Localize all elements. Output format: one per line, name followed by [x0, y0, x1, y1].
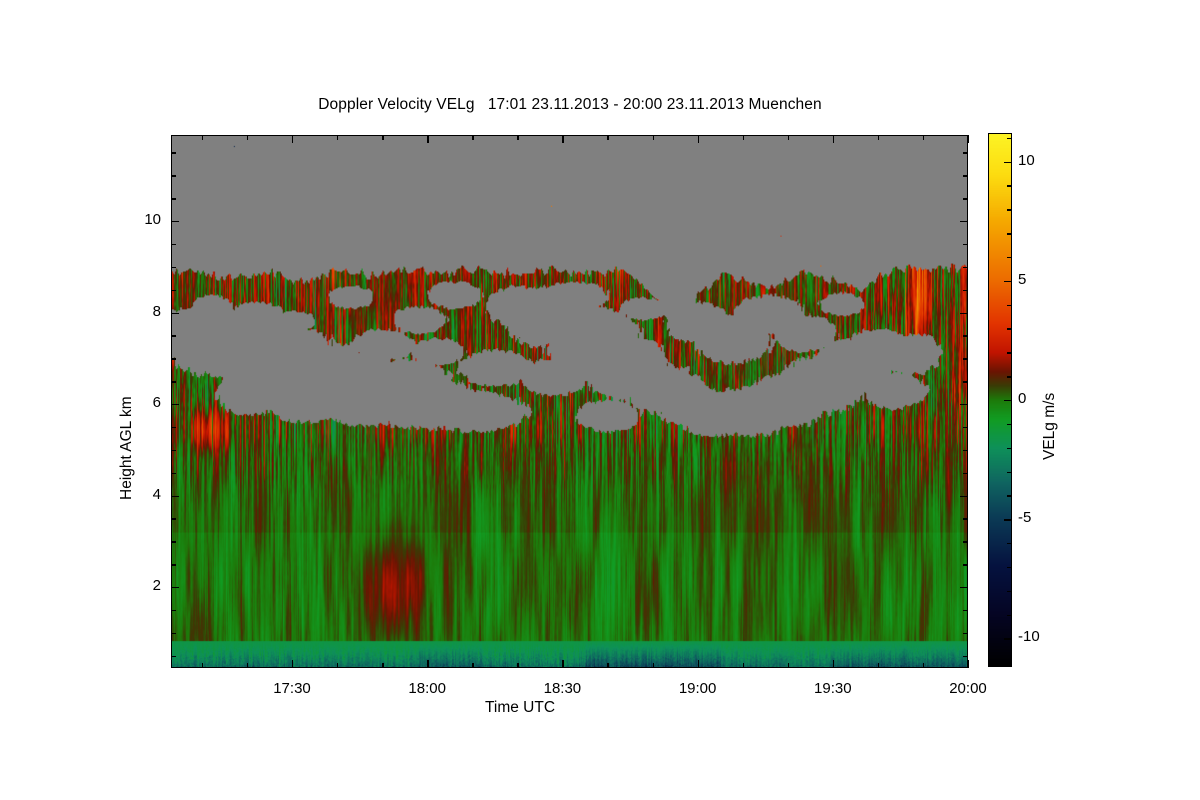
- colorbar-tick-minor: [1007, 257, 1012, 258]
- x-axis-tick-minor: [878, 663, 879, 668]
- y-axis-tick-major: [171, 221, 179, 222]
- x-axis-tick-minor-top: [878, 135, 879, 140]
- y-axis-tick-minor-right: [963, 335, 968, 336]
- colorbar-tick-minor: [1007, 209, 1012, 210]
- colorbar-tick-minor: [1007, 305, 1012, 306]
- x-axis-tick-minor: [202, 663, 203, 668]
- y-axis-tick-minor-right: [963, 541, 968, 542]
- colorbar-tick-minor: [1007, 376, 1012, 377]
- x-axis-tick-major-top: [833, 135, 834, 143]
- x-axis-tick-minor: [382, 663, 383, 668]
- page-title: Doppler Velocity VELg 17:01 23.11.2013 -…: [0, 96, 1140, 114]
- y-axis-tick-minor: [171, 427, 176, 428]
- colorbar-tick-minor: [1007, 662, 1012, 663]
- x-axis-tick-major: [562, 660, 563, 668]
- y-axis-tick-minor-right: [963, 427, 968, 428]
- colorbar-tick-minor: [1007, 567, 1012, 568]
- colorbar-tick-label: -10: [1018, 628, 1040, 645]
- y-axis-tick-minor: [171, 290, 176, 291]
- y-axis-tick-minor: [171, 244, 176, 245]
- y-axis-tick-label: 10: [101, 211, 161, 228]
- y-axis-tick-minor-right: [963, 450, 968, 451]
- x-axis-tick-minor-top: [337, 135, 338, 140]
- colorbar-tick-major: [1004, 400, 1012, 401]
- y-axis-tick-major: [171, 587, 179, 588]
- colorbar-tick-major: [1004, 638, 1012, 639]
- y-axis-tick-minor-right: [963, 198, 968, 199]
- y-axis-tick-minor-right: [963, 564, 968, 565]
- y-axis-tick-minor-right: [963, 290, 968, 291]
- colorbar-tick-minor: [1007, 543, 1012, 544]
- y-axis-tick-minor: [171, 473, 176, 474]
- y-axis-tick-minor: [171, 450, 176, 451]
- y-axis-tick-minor-right: [963, 267, 968, 268]
- x-axis-tick-minor: [337, 663, 338, 668]
- x-axis-tick-major-top: [292, 135, 293, 143]
- y-axis-tick-minor-right: [963, 518, 968, 519]
- y-axis-tick-major: [171, 313, 179, 314]
- x-axis-tick-major-top: [698, 135, 699, 143]
- y-axis-tick-minor: [171, 175, 176, 176]
- y-axis-tick-minor: [171, 656, 176, 657]
- y-axis-tick-minor-right: [963, 358, 968, 359]
- x-axis-tick-minor-top: [743, 135, 744, 140]
- y-axis-tick-minor: [171, 381, 176, 382]
- x-axis-tick-label: 18:00: [382, 680, 472, 697]
- x-axis-tick-minor-top: [517, 135, 518, 140]
- y-axis-tick-minor-right: [963, 244, 968, 245]
- colorbar-tick-minor: [1007, 185, 1012, 186]
- y-axis-tick-minor: [171, 152, 176, 153]
- colorbar-tick-major: [1004, 281, 1012, 282]
- x-axis-tick-minor: [517, 663, 518, 668]
- x-axis-tick-minor-top: [202, 135, 203, 140]
- doppler-velocity-figure: Doppler Velocity VELg 17:01 23.11.2013 -…: [0, 0, 1200, 800]
- x-axis-tick-minor-top: [788, 135, 789, 140]
- colorbar-tick-label: -5: [1018, 509, 1031, 526]
- x-axis-tick-label: 19:30: [788, 680, 878, 697]
- colorbar-tick-minor: [1007, 233, 1012, 234]
- y-axis-tick-minor-right: [963, 175, 968, 176]
- y-axis-title: Height AGL km: [118, 396, 136, 500]
- colorbar-tick-label: 10: [1018, 152, 1035, 169]
- x-axis-tick-major: [833, 660, 834, 668]
- x-axis-tick-major-top: [562, 135, 563, 143]
- y-axis-tick-minor: [171, 198, 176, 199]
- x-axis-tick-label: 18:30: [517, 680, 607, 697]
- x-axis-tick-label: 17:30: [247, 680, 337, 697]
- colorbar-tick-minor: [1007, 591, 1012, 592]
- x-axis-tick-minor-top: [923, 135, 924, 140]
- x-axis-tick-minor-top: [607, 135, 608, 140]
- y-axis-tick-minor: [171, 518, 176, 519]
- x-axis-tick-minor: [743, 663, 744, 668]
- x-axis-tick-major: [292, 660, 293, 668]
- y-axis-tick-minor: [171, 335, 176, 336]
- x-axis-tick-minor-top: [472, 135, 473, 140]
- colorbar-tick-major: [1004, 162, 1012, 163]
- y-axis-tick-label: 2: [101, 577, 161, 594]
- y-axis-tick-minor-right: [963, 633, 968, 634]
- colorbar-tick-label: 0: [1018, 390, 1026, 407]
- y-axis-tick-minor-right: [963, 473, 968, 474]
- colorbar-tick-minor: [1007, 352, 1012, 353]
- y-axis-tick-major-right: [960, 221, 968, 222]
- y-axis-tick-minor-right: [963, 656, 968, 657]
- y-axis-tick-major-right: [960, 587, 968, 588]
- y-axis-tick-minor: [171, 358, 176, 359]
- doppler-velocity-heatmap: [172, 136, 967, 667]
- colorbar-tick-major: [1004, 519, 1012, 520]
- y-axis-tick-label: 8: [101, 303, 161, 320]
- x-axis-tick-minor: [923, 663, 924, 668]
- x-axis-tick-minor: [653, 663, 654, 668]
- x-axis-tick-minor-top: [382, 135, 383, 140]
- colorbar-tick-minor: [1007, 138, 1012, 139]
- colorbar-tick-minor: [1007, 472, 1012, 473]
- y-axis-tick-minor: [171, 267, 176, 268]
- y-axis-tick-major-right: [960, 313, 968, 314]
- plot-area: [171, 135, 968, 668]
- x-axis-tick-major: [698, 660, 699, 668]
- colorbar-tick-minor: [1007, 424, 1012, 425]
- x-axis-tick-major-top: [968, 135, 969, 143]
- y-axis-tick-minor-right: [963, 610, 968, 611]
- x-axis-tick-label: 20:00: [923, 680, 1013, 697]
- colorbar-title: VELg m/s: [1041, 393, 1059, 460]
- colorbar-tick-minor: [1007, 448, 1012, 449]
- colorbar-tick-minor: [1007, 495, 1012, 496]
- y-axis-tick-major-right: [960, 496, 968, 497]
- x-axis-tick-minor: [247, 663, 248, 668]
- colorbar-tick-minor: [1007, 328, 1012, 329]
- y-axis-tick-minor-right: [963, 152, 968, 153]
- x-axis-tick-minor: [788, 663, 789, 668]
- x-axis-tick-minor: [607, 663, 608, 668]
- x-axis-title: Time UTC: [440, 699, 600, 717]
- y-axis-tick-major: [171, 404, 179, 405]
- y-axis-tick-minor: [171, 633, 176, 634]
- x-axis-tick-label: 19:00: [653, 680, 743, 697]
- y-axis-tick-major-right: [960, 404, 968, 405]
- y-axis-tick-minor: [171, 541, 176, 542]
- x-axis-tick-major-top: [427, 135, 428, 143]
- colorbar-tick-label: 5: [1018, 271, 1026, 288]
- x-axis-tick-major: [427, 660, 428, 668]
- y-axis-tick-minor: [171, 610, 176, 611]
- x-axis-tick-major: [968, 660, 969, 668]
- colorbar-tick-minor: [1007, 615, 1012, 616]
- y-axis-tick-major: [171, 496, 179, 497]
- x-axis-tick-minor: [472, 663, 473, 668]
- y-axis-tick-minor-right: [963, 381, 968, 382]
- x-axis-tick-minor-top: [247, 135, 248, 140]
- y-axis-tick-minor: [171, 564, 176, 565]
- x-axis-tick-minor-top: [653, 135, 654, 140]
